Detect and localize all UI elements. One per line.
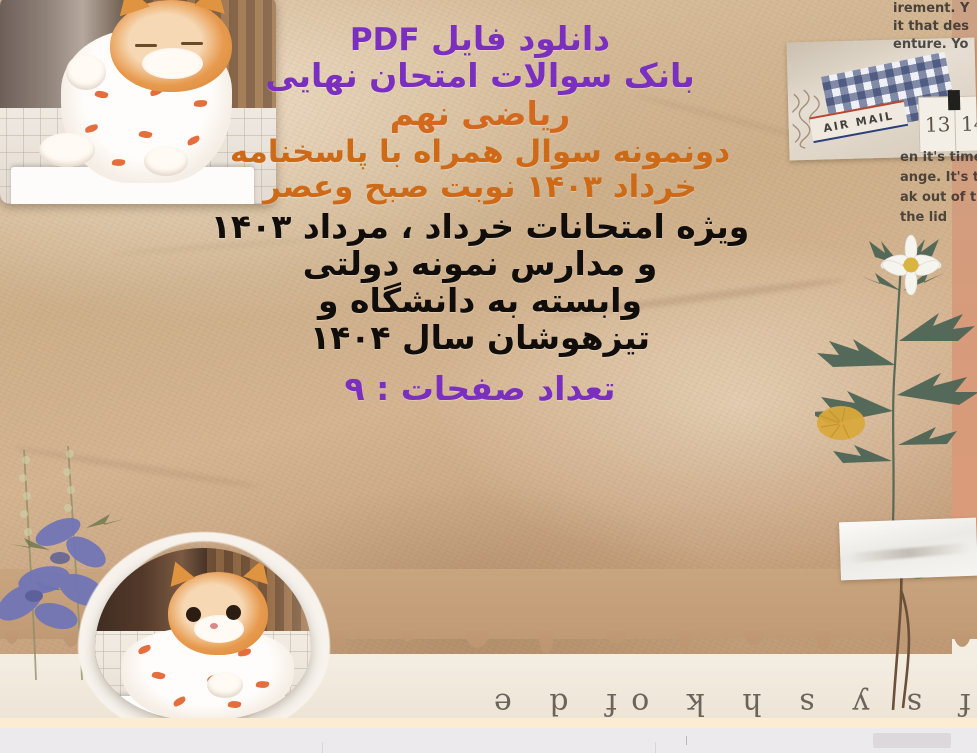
cat-head bbox=[168, 572, 267, 655]
vintage-printed-text-middle: en it's time t ange. It's tir ak out of … bbox=[900, 148, 977, 228]
headline-line-1-text: دانلود فایل bbox=[431, 19, 610, 58]
headline-line-5: خرداد ۱۴۰۳ نوبت صبح وعصر bbox=[150, 171, 810, 204]
headline-line-8: وابسته به دانشگاه و bbox=[150, 284, 810, 319]
pressed-daisy-sprig-icon bbox=[815, 225, 977, 525]
black-paper-chip bbox=[948, 90, 961, 110]
headline-line-7: و مدارس نمونه دولتی bbox=[150, 247, 810, 282]
scrollbar-thumb[interactable] bbox=[873, 733, 951, 748]
headline-line-3-subject: ریاضی نهم bbox=[150, 97, 810, 132]
cat-bottom-photo bbox=[95, 548, 311, 720]
page-count-label: تعداد صفحات : ۹ bbox=[150, 372, 810, 407]
cat-paw bbox=[39, 133, 95, 167]
status-bar-separator bbox=[322, 742, 323, 753]
poster-headline: دانلود فایل PDF بانک سوالات امتحان نهایی… bbox=[150, 22, 810, 406]
washi-tape-strip bbox=[839, 518, 977, 581]
headline-line-4: دونمونه سوال همراه با پاسخنامه bbox=[150, 136, 810, 169]
status-bar-separator bbox=[655, 742, 656, 753]
headline-line-2: بانک سوالات امتحان نهایی bbox=[150, 59, 810, 94]
pressed-leaf-sprig-icon bbox=[845, 560, 965, 710]
bottom-status-bar bbox=[0, 727, 977, 753]
headline-line-6: ویژه امتحانات خرداد ، مرداد ۱۴۰۳ bbox=[150, 210, 810, 245]
cat-eye bbox=[186, 607, 201, 622]
headline-line-1: دانلود فایل PDF bbox=[150, 22, 810, 57]
cat-paw bbox=[207, 672, 243, 698]
cat-eye bbox=[226, 605, 241, 620]
headline-line-1-latin: PDF bbox=[350, 24, 420, 57]
headline-line-9: تیزهوشان سال ۱۴۰۴ bbox=[150, 321, 810, 356]
cream-divider bbox=[0, 718, 977, 728]
vintage-printed-text-top: irement. Y it that des enture. Yo bbox=[893, 0, 977, 58]
status-bar-tick bbox=[686, 736, 687, 745]
poster-canvas: f s y s h k of d e AIR MAIL 13 14 iremen… bbox=[0, 0, 977, 727]
